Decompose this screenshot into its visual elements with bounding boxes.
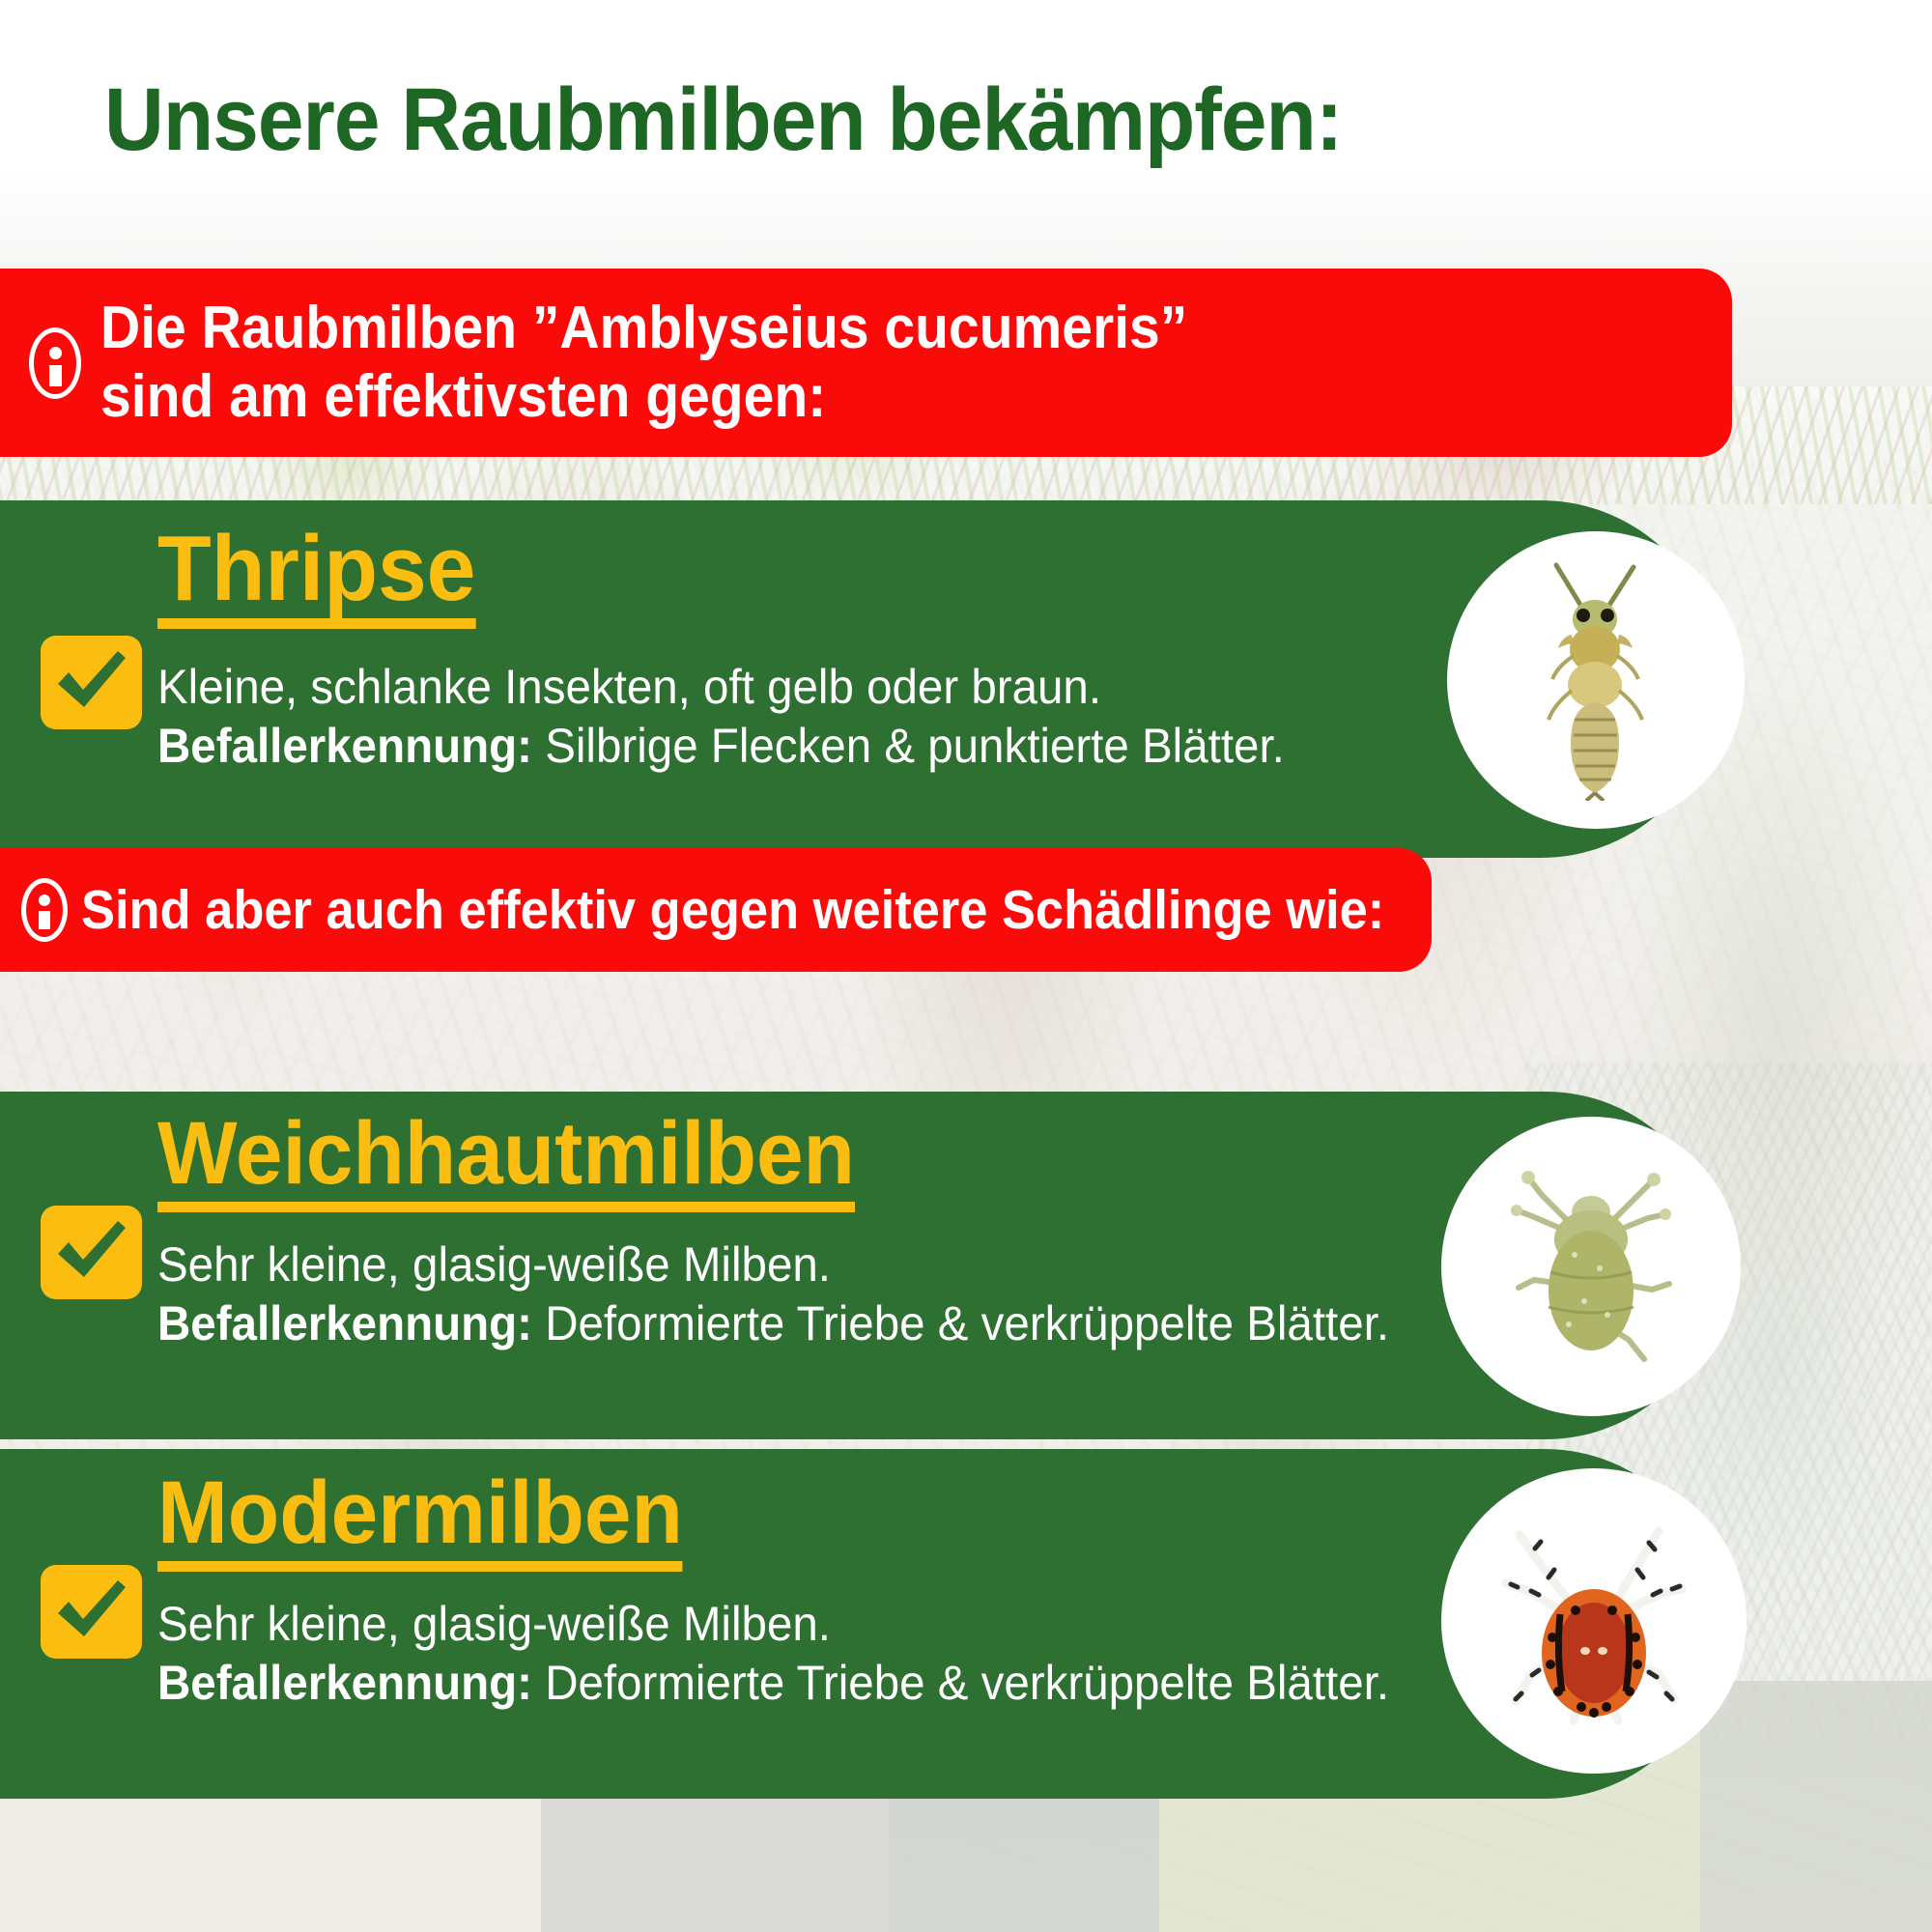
- mould-mite-illustration: [1492, 1510, 1695, 1732]
- checkmark-icon: [41, 1565, 142, 1659]
- soft-mite-illustration: [1499, 1160, 1683, 1373]
- thrips-illustration: [1523, 559, 1668, 801]
- info-banner-secondary-text: Sind aber auch effektiv gegen weitere Sc…: [81, 879, 1384, 941]
- soft-mite-photo: [1441, 1117, 1741, 1416]
- pest-name-weichhautmilben: Weichhautmilben: [157, 1109, 855, 1212]
- detection-text: Deformierte Triebe & verkrüppelte Blätte…: [545, 1656, 1389, 1710]
- pest-detection-line: Befallerkennung: Silbrige Flecken & punk…: [157, 717, 1366, 776]
- info-banner-secondary: Sind aber auch effektiv gegen weitere Sc…: [0, 848, 1432, 972]
- info-banner-primary-text: Die Raubmilben ”Amblyseius cucumeris” si…: [100, 295, 1187, 430]
- info-banner-primary-line2: sind am effektivsten gegen:: [100, 363, 826, 430]
- detection-text: Silbrige Flecken & punktierte Blätter.: [545, 719, 1285, 773]
- page-title: Unsere Raubmilben bekämpfen:: [104, 75, 1721, 164]
- pest-description-line: Sehr kleine, glasig-weiße Milben.: [157, 1595, 1366, 1654]
- pest-detection-line: Befallerkennung: Deformierte Triebe & ve…: [157, 1654, 1366, 1713]
- pest-card-modermilben-body: Modermilben Sehr kleine, glasig-weiße Mi…: [157, 1468, 1430, 1713]
- checkmark-glyph: [53, 1577, 130, 1646]
- detection-label: Befallerkennung:: [157, 1296, 532, 1350]
- checkmark-icon: [41, 1206, 142, 1299]
- checkmark-glyph: [53, 1217, 130, 1287]
- detection-label: Befallerkennung:: [157, 1656, 532, 1710]
- info-banner-primary: Die Raubmilben ”Amblyseius cucumeris” si…: [0, 269, 1732, 457]
- thrips-photo: [1447, 531, 1745, 829]
- checkmark-glyph: [53, 647, 130, 717]
- detection-text: Deformierte Triebe & verkrüppelte Blätte…: [545, 1296, 1389, 1350]
- pest-description-modermilben: Sehr kleine, glasig-weiße Milben. Befall…: [157, 1595, 1366, 1713]
- detection-label: Befallerkennung:: [157, 719, 532, 773]
- info-banner-primary-line1: Die Raubmilben ”Amblyseius cucumeris”: [100, 295, 1187, 361]
- pest-card-weichhautmilben-body: Weichhautmilben Sehr kleine, glasig-weiß…: [157, 1109, 1430, 1353]
- info-icon-ring: [21, 878, 68, 942]
- pest-description-line: Sehr kleine, glasig-weiße Milben.: [157, 1236, 1366, 1294]
- mould-mite-photo: [1441, 1468, 1747, 1774]
- info-icon-stem: [39, 911, 50, 929]
- info-icon-stem: [49, 365, 62, 386]
- pest-card-thripse-body: Thripse Kleine, schlanke Insekten, oft g…: [157, 522, 1430, 776]
- checkmark-icon: [41, 636, 142, 729]
- infographic-canvas: Unsere Raubmilben bekämpfen: Die Raubmil…: [0, 0, 1932, 1932]
- pest-description-weichhautmilben: Sehr kleine, glasig-weiße Milben. Befall…: [157, 1236, 1366, 1353]
- info-icon-ring: [29, 327, 81, 399]
- pest-description-thripse: Kleine, schlanke Insekten, oft gelb oder…: [157, 658, 1366, 776]
- pest-detection-line: Befallerkennung: Deformierte Triebe & ve…: [157, 1294, 1366, 1353]
- info-icon-dot: [49, 347, 62, 359]
- pest-name-modermilben: Modermilben: [157, 1468, 683, 1572]
- info-icon-dot: [39, 895, 50, 906]
- pest-name-thripse: Thripse: [157, 522, 475, 629]
- info-icon: [29, 327, 81, 399]
- info-icon: [21, 878, 68, 942]
- pest-description-line: Kleine, schlanke Insekten, oft gelb oder…: [157, 658, 1366, 717]
